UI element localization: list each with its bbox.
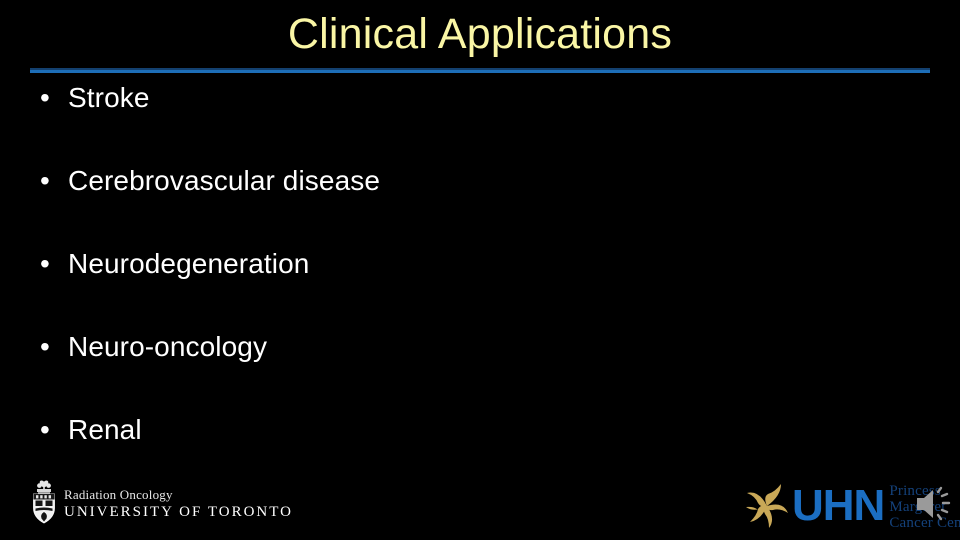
title-divider-rule bbox=[30, 68, 930, 73]
list-item: • Neurodegeneration bbox=[36, 246, 916, 329]
slide-canvas: Clinical Applications • Stroke • Cerebro… bbox=[0, 0, 960, 540]
uoft-department-label: Radiation Oncology bbox=[64, 487, 293, 502]
list-item: • Stroke bbox=[36, 80, 916, 163]
list-item-label: Cerebrovascular disease bbox=[68, 163, 916, 199]
list-item-label: Renal bbox=[68, 412, 916, 448]
list-item: • Neuro-oncology bbox=[36, 329, 916, 412]
list-item-label: Stroke bbox=[68, 80, 916, 116]
list-item-label: Neurodegeneration bbox=[68, 246, 916, 282]
divider-line-blue bbox=[30, 70, 930, 73]
bullet-marker-icon: • bbox=[36, 412, 68, 448]
uhn-swirl-icon bbox=[744, 483, 790, 529]
bullet-list: • Stroke • Cerebrovascular disease • Neu… bbox=[36, 80, 916, 495]
list-item-label: Neuro-oncology bbox=[68, 329, 916, 365]
slide-title: Clinical Applications bbox=[0, 8, 960, 60]
bullet-marker-icon: • bbox=[36, 329, 68, 365]
speaker-icon[interactable] bbox=[912, 483, 954, 525]
list-item: • Cerebrovascular disease bbox=[36, 163, 916, 246]
bullet-marker-icon: • bbox=[36, 80, 68, 116]
university-of-toronto-logo: Radiation Oncology UNIVERSITY OF TORONTO bbox=[29, 478, 293, 526]
uoft-university-label: UNIVERSITY OF TORONTO bbox=[64, 503, 293, 521]
uoft-crest-icon bbox=[29, 480, 59, 524]
bullet-marker-icon: • bbox=[36, 246, 68, 282]
uhn-letters: UHN bbox=[792, 483, 884, 529]
uoft-wordmark: Radiation Oncology UNIVERSITY OF TORONTO bbox=[64, 483, 293, 521]
bullet-marker-icon: • bbox=[36, 163, 68, 199]
